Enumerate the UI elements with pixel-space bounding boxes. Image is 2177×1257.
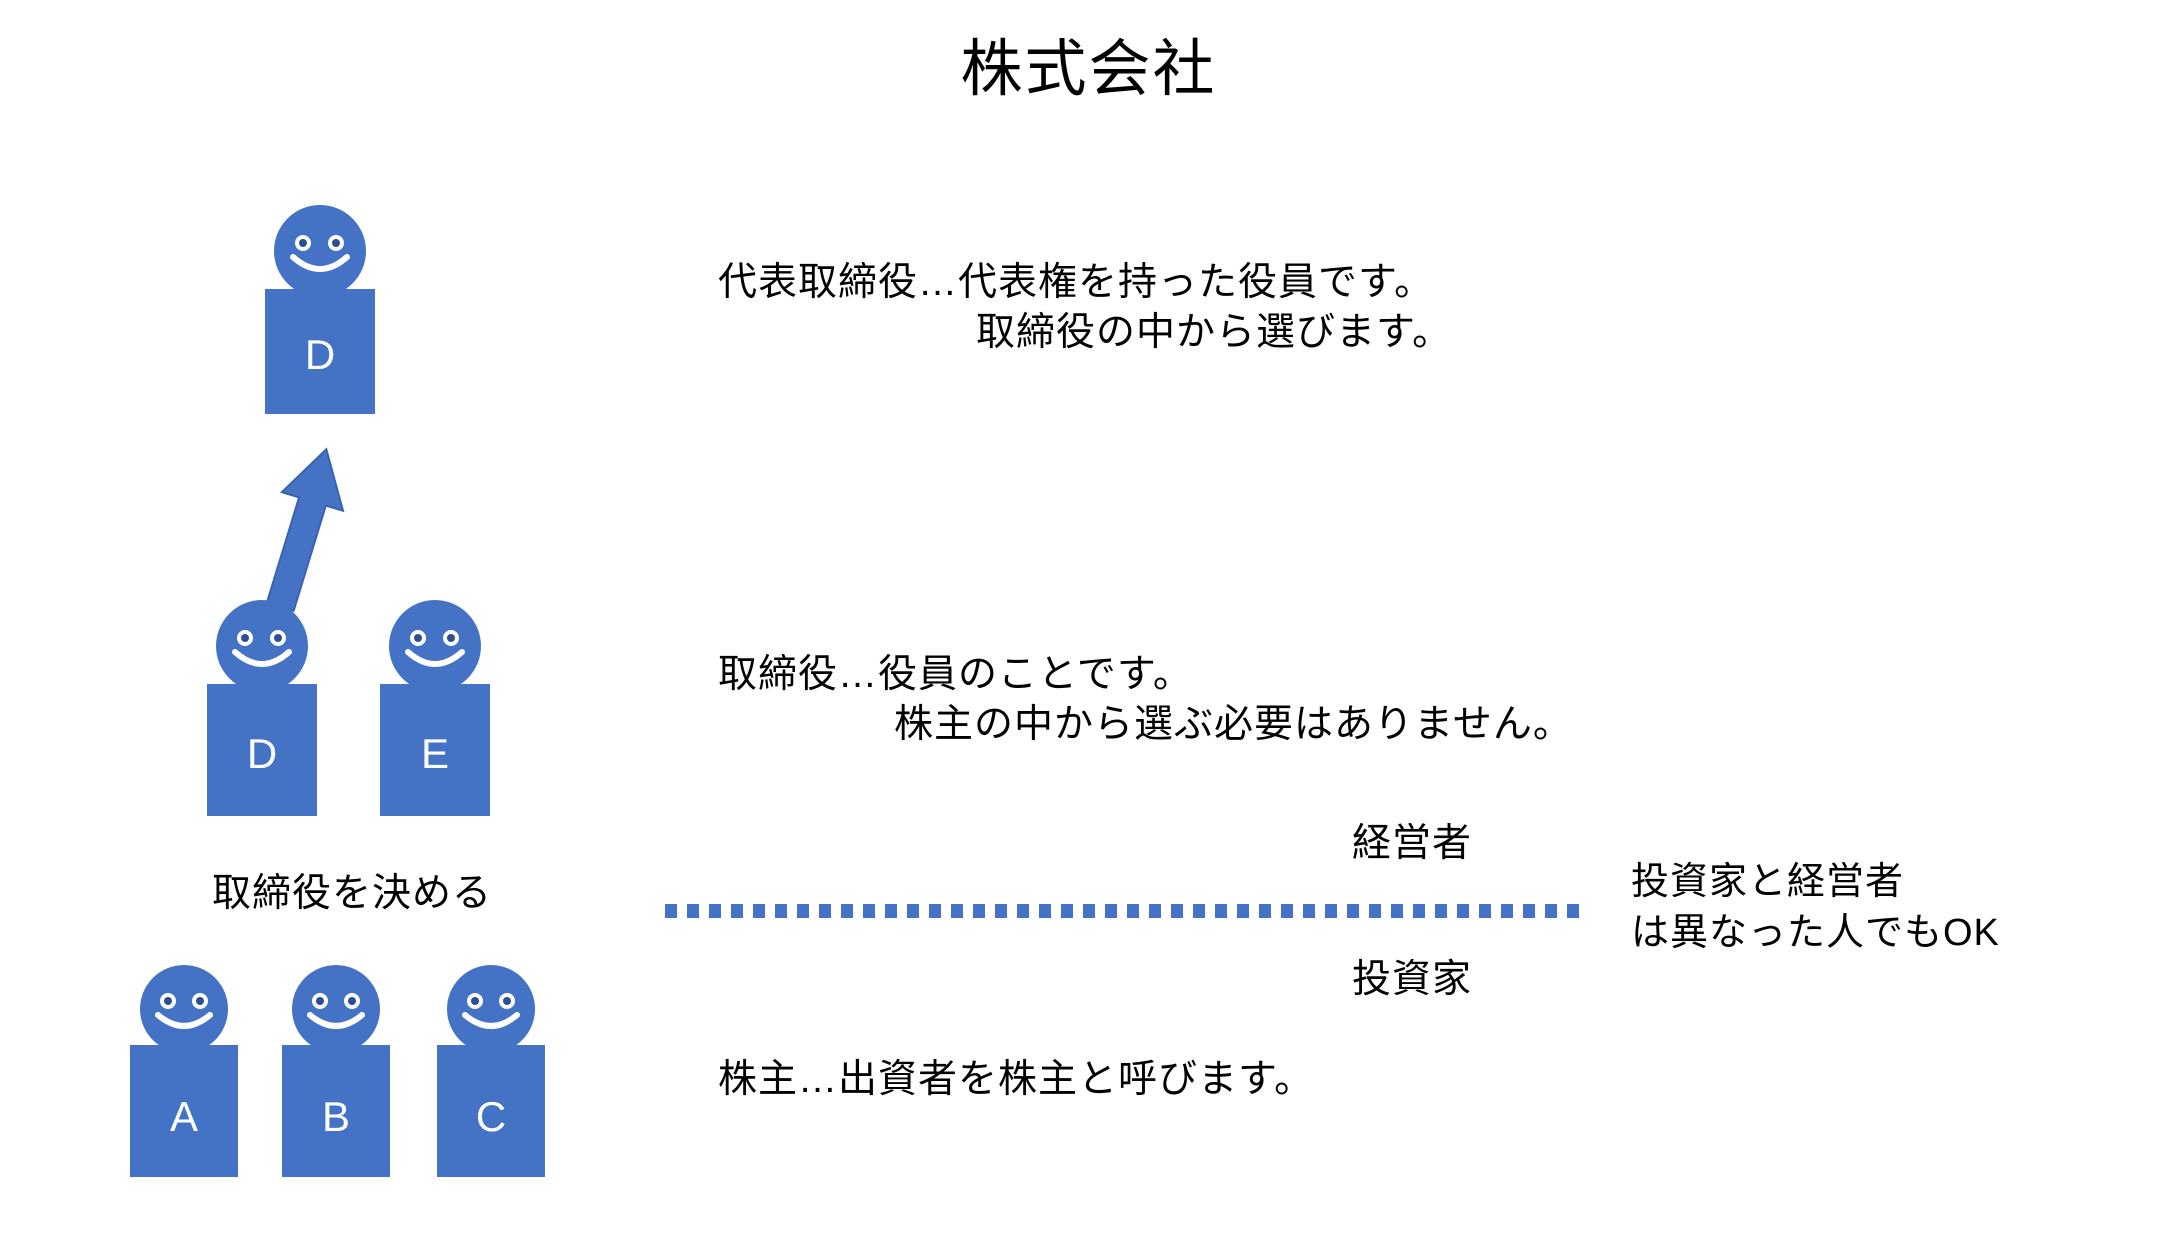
manager-label: 経営者: [1352, 812, 1472, 868]
pupil-left: [241, 634, 249, 642]
eye-left: [160, 993, 176, 1009]
eye-left: [467, 993, 483, 1009]
rep-director-note-line2: 取締役の中から選びます。: [718, 308, 1452, 358]
person-c-shareholder: C: [437, 965, 545, 1180]
eye-right: [270, 630, 286, 646]
head-circle: [140, 965, 228, 1053]
investor-manager-note-line1: 投資家と経営者: [1631, 857, 2000, 908]
head-circle: [292, 965, 380, 1053]
smile-icon: [405, 646, 465, 678]
eye-left: [237, 630, 253, 646]
person-a-shareholder: A: [130, 965, 238, 1180]
page-title: 株式会社: [0, 34, 2177, 105]
eye-left: [312, 993, 328, 1009]
person-d-top: D: [265, 205, 375, 415]
manager-investor-divider: [665, 903, 1587, 919]
smile-icon: [462, 1009, 520, 1039]
eye-left: [410, 630, 426, 646]
person-letter: C: [437, 1093, 545, 1141]
smile-icon: [232, 646, 292, 678]
investor-label: 投資家: [1352, 948, 1472, 1004]
smile-icon: [307, 1009, 365, 1039]
eye-right: [344, 993, 360, 1009]
representative-director-note: 代表取締役…代表権を持った役員です。 取締役の中から選びます。: [718, 258, 1452, 358]
investor-manager-note: 投資家と経営者 は異なった人でもOK: [1631, 857, 2000, 958]
pupil-left: [414, 634, 422, 642]
promotion-arrow: [250, 440, 370, 620]
smile-icon: [290, 251, 350, 283]
elect-directors-label: 取締役を決める: [212, 862, 492, 918]
person-letter: A: [130, 1093, 238, 1141]
director-note-line2: 株主の中から選ぶ必要はありません。: [718, 700, 1573, 750]
slide-canvas: 株式会社 D: [0, 0, 2177, 1257]
pupil-left: [316, 997, 324, 1005]
pupil-left: [299, 239, 307, 247]
director-note-line1: 取締役…役員のことです。: [718, 650, 1573, 700]
person-b-shareholder: B: [282, 965, 390, 1180]
pupil-right: [332, 239, 340, 247]
pupil-right: [196, 997, 204, 1005]
eye-left: [295, 235, 311, 251]
shareholder-note: 株主…出資者を株主と呼びます。: [718, 1048, 1314, 1104]
pupil-right: [274, 634, 282, 642]
investor-manager-note-line2: は異なった人でもOK: [1631, 908, 2000, 959]
head-circle: [447, 965, 535, 1053]
smile-icon: [155, 1009, 213, 1039]
pupil-left: [471, 997, 479, 1005]
pupil-right: [447, 634, 455, 642]
pupil-right: [348, 997, 356, 1005]
rep-director-note-line1: 代表取締役…代表権を持った役員です。: [718, 258, 1452, 308]
person-letter: E: [380, 730, 490, 778]
person-letter: B: [282, 1093, 390, 1141]
pupil-right: [503, 997, 511, 1005]
person-letter: D: [265, 331, 375, 379]
person-letter: D: [207, 730, 317, 778]
director-note: 取締役…役員のことです。 株主の中から選ぶ必要はありません。: [718, 650, 1573, 750]
pupil-left: [164, 997, 172, 1005]
person-e-director: E: [380, 600, 490, 815]
eye-right: [499, 993, 515, 1009]
eye-right: [443, 630, 459, 646]
head-circle: [274, 205, 366, 297]
person-d-director: D: [207, 600, 317, 815]
head-circle: [389, 600, 481, 692]
eye-right: [192, 993, 208, 1009]
head-circle: [216, 600, 308, 692]
eye-right: [328, 235, 344, 251]
